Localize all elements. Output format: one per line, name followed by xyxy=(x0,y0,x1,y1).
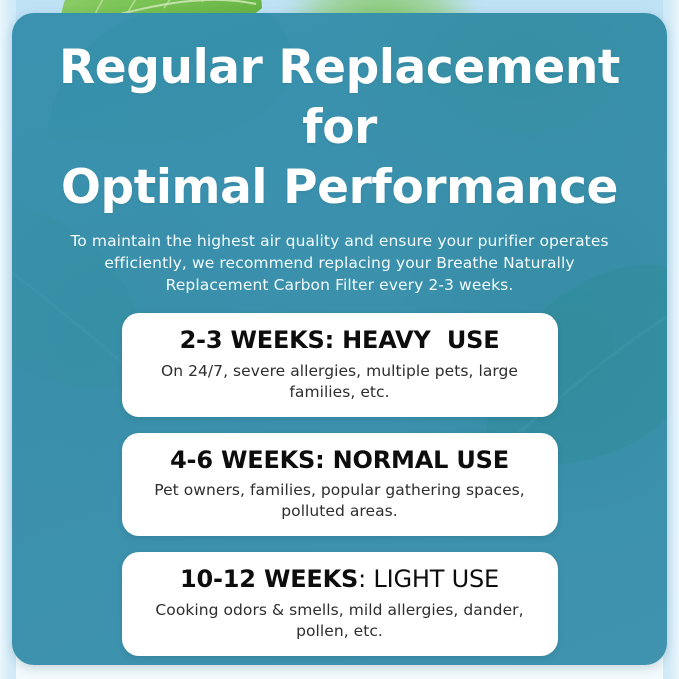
schedule-card-light-use: 10-12 WEEKS: LIGHT USE Cooking odors & s… xyxy=(122,552,558,655)
schedule-card-heading: 4-6 WEEKS: NORMAL USE xyxy=(144,446,536,474)
schedule-card-heading: 10-12 WEEKS: LIGHT USE xyxy=(144,565,536,593)
schedule-card-body: On 24/7, severe allergies, multiple pets… xyxy=(144,361,536,403)
schedule-card-body: Cooking odors & smells, mild allergies, … xyxy=(144,600,536,642)
subtitle-text: To maintain the highest air quality and … xyxy=(60,230,620,296)
replacement-schedule-list: 2-3 WEEKS: HEAVY USE On 24/7, severe all… xyxy=(12,313,667,655)
page-title: Regular Replacement for Optimal Performa… xyxy=(12,13,667,218)
main-teal-panel: Regular Replacement for Optimal Performa… xyxy=(12,13,667,665)
title-line-2: Optimal Performance xyxy=(36,158,643,218)
heading-bold-part: 4-6 WEEKS: NORMAL USE xyxy=(170,446,509,474)
heading-light-part: : LIGHT USE xyxy=(358,565,499,593)
panel-content: Regular Replacement for Optimal Performa… xyxy=(12,13,667,665)
title-line-1: Regular Replacement for xyxy=(59,40,620,155)
heading-bold-part: 2-3 WEEKS: HEAVY USE xyxy=(180,326,500,354)
schedule-card-heavy-use: 2-3 WEEKS: HEAVY USE On 24/7, severe all… xyxy=(122,313,558,416)
schedule-card-heading: 2-3 WEEKS: HEAVY USE xyxy=(144,326,536,354)
schedule-card-normal-use: 4-6 WEEKS: NORMAL USE Pet owners, famili… xyxy=(122,433,558,536)
infographic-canvas: Regular Replacement for Optimal Performa… xyxy=(0,0,679,679)
schedule-card-body: Pet owners, families, popular gathering … xyxy=(144,480,536,522)
heading-bold-part: 10-12 WEEKS xyxy=(180,565,358,593)
